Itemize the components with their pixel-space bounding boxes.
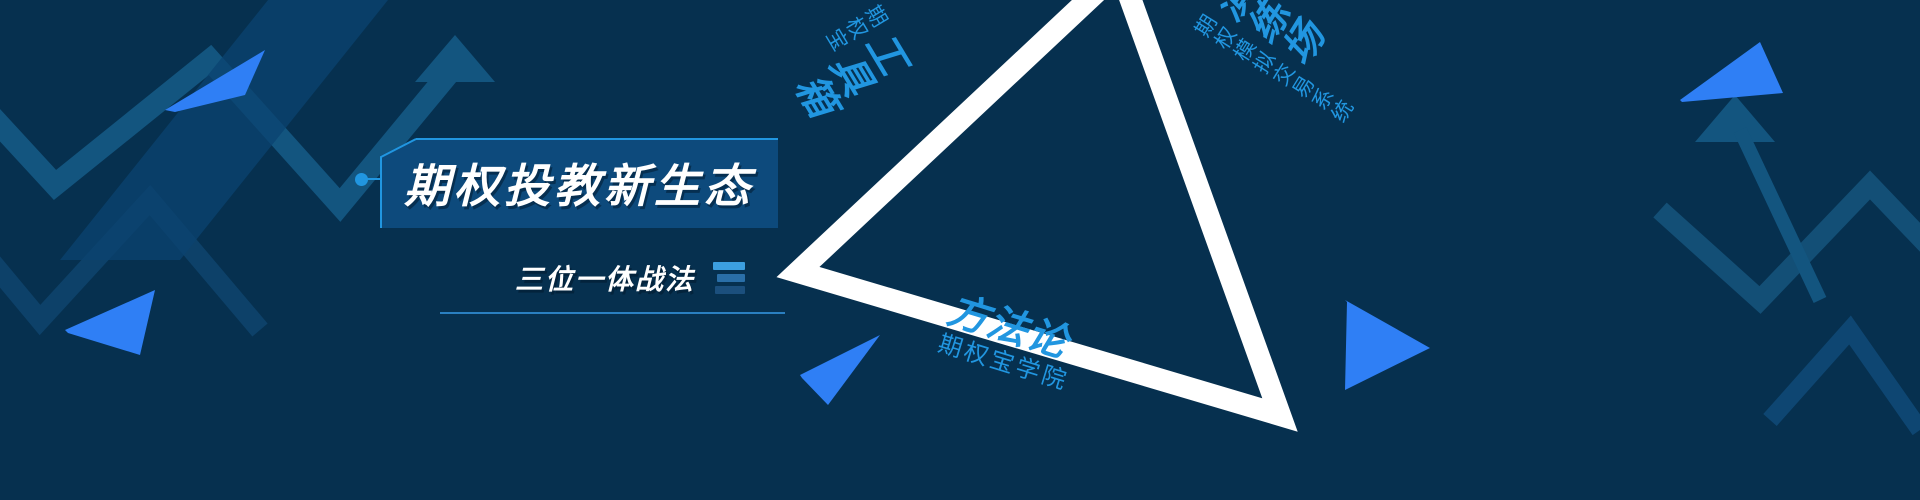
divider-line xyxy=(440,312,785,314)
headline-block: 期权投教新生态 三位一体战法 xyxy=(355,130,785,310)
stepped-bars-icon xyxy=(713,262,745,294)
three-pillar-triangle: 工具箱 期权宝 演练场 期权模拟交易系统 方法论 期权宝学院 xyxy=(760,0,1380,500)
arrow-up-left-icon xyxy=(415,35,495,82)
promo-banner: 期权投教新生态 三位一体战法 工具箱 期权宝 演练场 期权模拟交易系统 方法论 … xyxy=(0,0,1920,500)
page-title: 期权投教新生态 xyxy=(380,138,778,228)
blue-shard-top-right xyxy=(1680,42,1783,102)
subtitle-row: 三位一体战法 xyxy=(515,255,785,301)
subtitle-text: 三位一体战法 xyxy=(515,258,695,298)
blue-shard-bottom-left xyxy=(65,290,155,355)
chart-zigzag-far-right xyxy=(1770,330,1920,430)
page-title-frame: 期权投教新生态 xyxy=(380,138,778,228)
